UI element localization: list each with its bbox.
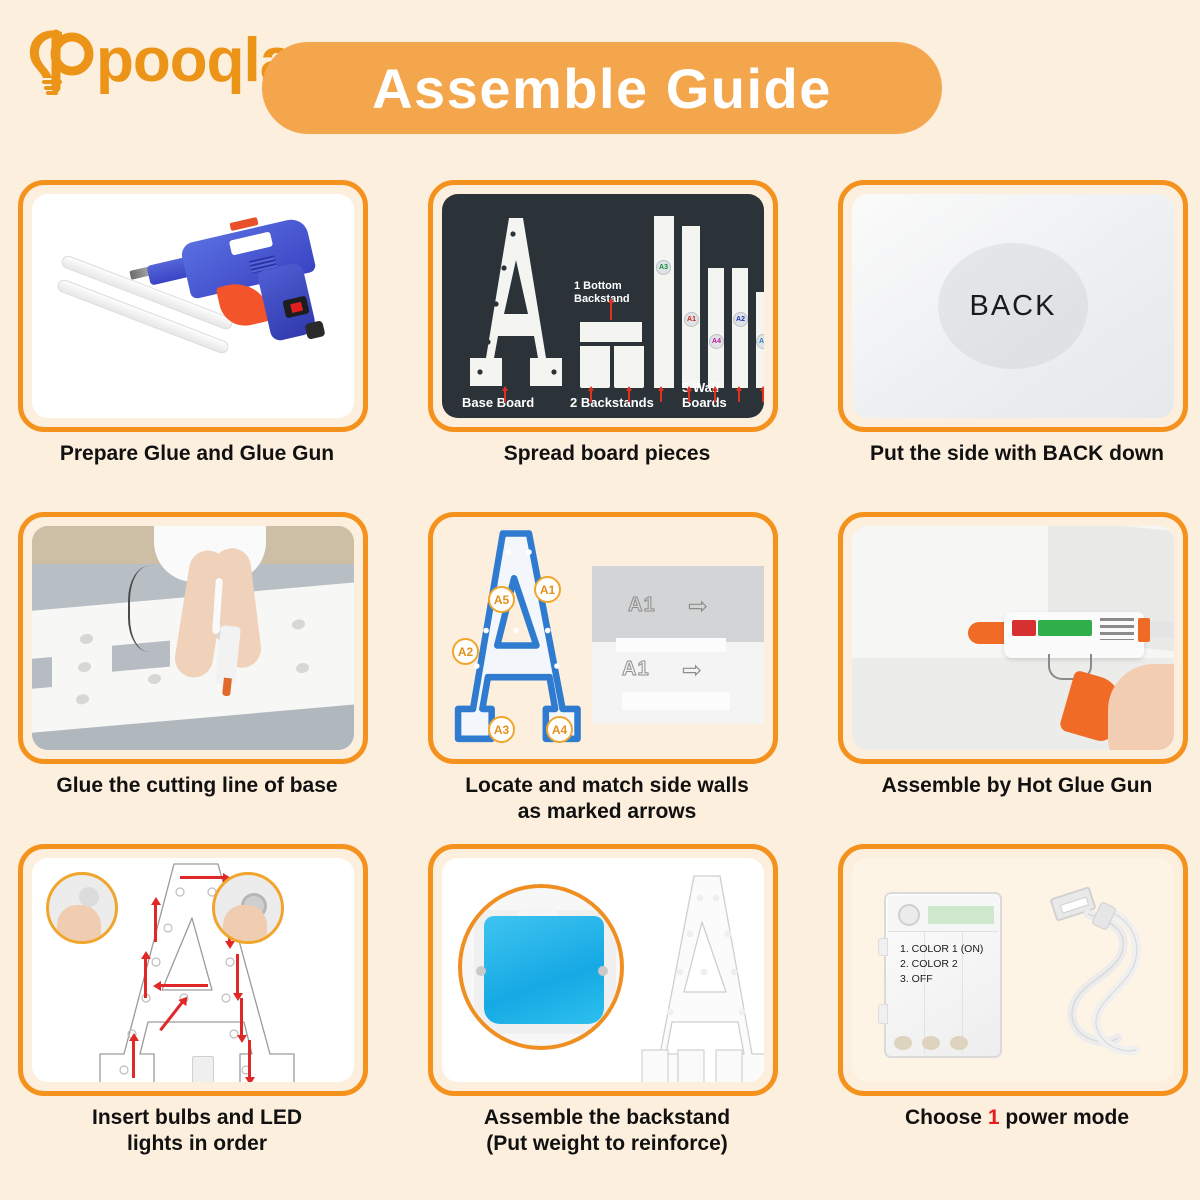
base-board-letter-a <box>468 216 562 388</box>
wall-board-a4 <box>708 268 724 388</box>
pointer-arrow <box>688 390 690 402</box>
step-caption-8-line1: Assemble the backstand <box>428 1105 786 1131</box>
foot-label-wall-boards: 5 Wall Boards <box>682 380 764 410</box>
power-mode-photo: 1. COLOR 1 (ON) 2. COLOR 2 3. OFF <box>852 858 1174 1082</box>
step-image-frame-4 <box>18 512 368 764</box>
step-image-frame-6 <box>838 512 1188 764</box>
step-caption-4: Glue the cutting line of base <box>18 773 376 799</box>
battery-box-lid <box>888 896 998 932</box>
step-caption-2: Spread board pieces <box>428 441 786 467</box>
battery-cells <box>894 1036 968 1050</box>
bulb-socket-inset-photo <box>212 872 284 944</box>
header: pooqla Assemble Guide <box>0 0 1200 160</box>
step-card-4: Glue the cutting line of base <box>18 512 393 799</box>
step-caption-9-highlight: 1 <box>988 1106 1000 1129</box>
badge-a1: A1 <box>534 576 561 603</box>
wall-board-a1 <box>682 226 700 388</box>
page-title: Assemble Guide <box>372 56 832 121</box>
letter-a-wall-map: A5 A1 A2 A3 A4 A1 ⇨ A1 ⇨ <box>442 526 764 750</box>
latch-tab <box>878 938 888 956</box>
flow-arrow <box>154 904 157 942</box>
pointer-arrow <box>660 390 662 402</box>
pointer-arrow <box>628 390 630 402</box>
steps-grid: Prepare Glue and Glue Gun <box>0 160 1200 1200</box>
board-step-lower <box>622 692 730 710</box>
step-caption-8-line2: (Put weight to reinforce) <box>428 1131 786 1157</box>
arrow-right-icon: ⇨ <box>688 592 708 621</box>
step-card-2: A3 A1 A4 A2 A5 1 Bottom Backstand Base B… <box>428 180 803 467</box>
badge-a4: A4 <box>546 716 573 743</box>
step-card-1: Prepare Glue and Glue Gun <box>18 180 393 467</box>
mark-a1-lower: A1 <box>622 658 650 681</box>
letter-a-with-backstand <box>638 872 764 1082</box>
lightbulb-icon <box>22 22 94 100</box>
board-step-upper <box>616 638 726 652</box>
step-caption-9-pre: Choose <box>905 1106 988 1129</box>
glue-stick-cap <box>1138 618 1150 642</box>
bulb <box>79 887 99 907</box>
usb-cable <box>1044 888 1174 1068</box>
latch-tab <box>878 1004 888 1024</box>
pointer-arrow <box>590 390 592 402</box>
bottom-backstand-top <box>580 322 642 342</box>
glue-gun-green-label <box>1038 620 1092 636</box>
backstand-piece <box>580 346 610 388</box>
chip-a1: A1 <box>684 312 699 327</box>
back-label-photo: BACK <box>852 194 1174 418</box>
step-caption-5: Locate and match side walls as marked ar… <box>428 773 786 824</box>
step-caption-5-line1: Locate and match side walls <box>428 773 786 799</box>
badge-a5: A5 <box>488 586 515 613</box>
flow-arrow <box>132 1040 135 1078</box>
gluing-base-photo <box>32 526 354 750</box>
step-image-frame-1 <box>18 180 368 432</box>
step-image-frame-5: A5 A1 A2 A3 A4 A1 ⇨ A1 ⇨ <box>428 512 778 764</box>
bulb-insert-inset-photo <box>46 872 118 944</box>
step-caption-1: Prepare Glue and Glue Gun <box>18 441 376 467</box>
bulb-insertion-diagram <box>32 858 354 1082</box>
pointer-arrow <box>504 390 506 402</box>
board-pieces-diagram: A3 A1 A4 A2 A5 1 Bottom Backstand Base B… <box>442 194 764 418</box>
foot-label-backstands: 2 Backstands <box>570 395 654 410</box>
glue-gun-cable-cap <box>304 320 325 340</box>
step-caption-9-post: power mode <box>1000 1106 1130 1129</box>
step-caption-8: Assemble the backstand (Put weight to re… <box>428 1105 786 1156</box>
glue-gun-brand-label <box>1012 620 1036 636</box>
arrow-right-icon: ⇨ <box>682 656 702 685</box>
flow-arrow <box>236 954 239 994</box>
step-card-8: Assemble the backstand (Put weight to re… <box>428 844 803 1156</box>
flow-arrow <box>248 1040 251 1078</box>
badge-a2: A2 <box>452 638 479 665</box>
chip-a3: A3 <box>656 260 671 275</box>
step-image-frame-2: A3 A1 A4 A2 A5 1 Bottom Backstand Base B… <box>428 180 778 432</box>
step-card-6: Assemble by Hot Glue Gun <box>838 512 1200 799</box>
step-image-frame-3: BACK <box>838 180 1188 432</box>
step-caption-9: Choose 1 power mode <box>838 1105 1196 1131</box>
step-card-7: Insert bulbs and LED lights in order <box>18 844 393 1156</box>
hot-glue-gun-photo <box>852 526 1174 750</box>
blue-water-bag <box>484 916 604 1024</box>
power-mode-list: 1. COLOR 1 (ON) 2. COLOR 2 3. OFF <box>900 942 983 988</box>
step-card-3: BACK Put the side with BACK down <box>838 180 1200 467</box>
flow-arrow <box>240 998 243 1036</box>
step-caption-5-line2: as marked arrows <box>428 799 786 825</box>
chip-a5: A5 <box>756 334 764 349</box>
pointer-arrow <box>610 302 612 320</box>
flow-arrow <box>144 958 147 998</box>
hand <box>57 905 101 944</box>
foot-label-base-board: Base Board <box>462 395 534 410</box>
flow-arrow <box>180 876 224 879</box>
step-image-frame-8 <box>428 844 778 1096</box>
screw <box>598 966 608 976</box>
backstand-assembly <box>442 858 764 1082</box>
power-cord <box>128 566 180 652</box>
back-text: BACK <box>970 290 1057 323</box>
glue-gun-vent <box>1100 618 1134 640</box>
led-battery-pack <box>192 1056 214 1082</box>
pointer-arrow <box>762 390 764 402</box>
wall-board-a2 <box>732 268 748 388</box>
step-caption-7: Insert bulbs and LED lights in order <box>18 1105 376 1156</box>
step-caption-3: Put the side with BACK down <box>838 441 1196 467</box>
chip-a4: A4 <box>709 334 724 349</box>
water-bag-inset-photo <box>458 884 624 1050</box>
hand <box>223 905 267 944</box>
step-image-frame-7 <box>18 844 368 1096</box>
glue-gun-illustration <box>32 194 354 418</box>
assemble-guide-page: pooqla Assemble Guide <box>0 0 1200 1200</box>
brand-logo: pooqla <box>22 22 293 100</box>
circuit-board <box>928 906 994 924</box>
mode-button[interactable] <box>898 904 920 926</box>
chip-a2: A2 <box>733 312 748 327</box>
pointer-arrow <box>714 390 716 402</box>
pointer-arrow <box>738 390 740 402</box>
battery-box: 1. COLOR 1 (ON) 2. COLOR 2 3. OFF <box>884 892 1002 1058</box>
screw <box>476 966 486 976</box>
flow-arrow <box>160 984 208 987</box>
title-banner: Assemble Guide <box>262 42 942 134</box>
step-card-5: A5 A1 A2 A3 A4 A1 ⇨ A1 ⇨ <box>428 512 803 824</box>
wall-marking-photo: A1 ⇨ A1 ⇨ <box>592 566 764 724</box>
step-image-frame-9: 1. COLOR 1 (ON) 2. COLOR 2 3. OFF <box>838 844 1188 1096</box>
mark-a1-upper: A1 <box>628 594 656 617</box>
step-caption-6: Assemble by Hot Glue Gun <box>838 773 1196 799</box>
step-caption-7-line1: Insert bulbs and LED <box>18 1105 376 1131</box>
step-caption-7-line2: lights in order <box>18 1131 376 1157</box>
wall-board-a3 <box>654 216 674 388</box>
backstand-piece <box>614 346 644 388</box>
step-card-9: 1. COLOR 1 (ON) 2. COLOR 2 3. OFF <box>838 844 1200 1131</box>
badge-a3: A3 <box>488 716 515 743</box>
